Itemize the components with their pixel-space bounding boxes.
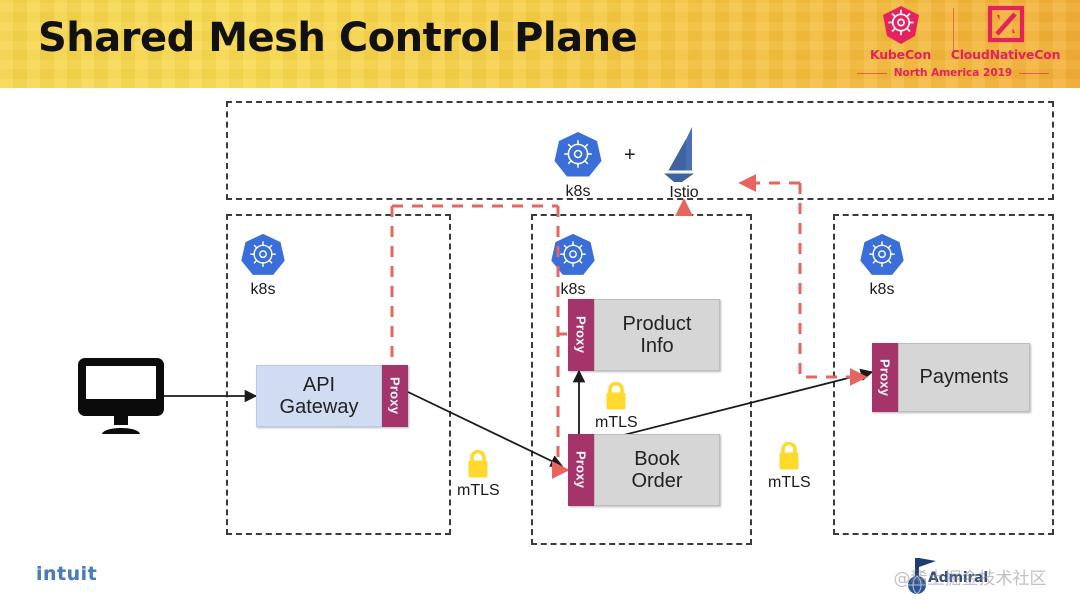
mtls-label: mTLS [457,482,500,500]
subtitle-rule-right [1019,73,1049,74]
service-line-1: Product [623,313,692,335]
kubernetes-icon [552,130,604,182]
service-line-1: Payments [920,366,1009,388]
cluster-middle-k8s: k8s [549,232,597,299]
lock-icon [775,441,803,471]
proxy-sidecar-product-info[interactable]: Proxy [568,299,594,371]
service-book-order[interactable]: Proxy Book Order [568,434,720,506]
service-label-api-gateway: API Gateway [256,365,382,427]
k8s-label: k8s [251,281,276,299]
conference-logos: KubeCon CloudNativeCon North America 201… [840,5,1066,87]
proxy-sidecar-book-order[interactable]: Proxy [568,434,594,506]
cloudnativecon-label: CloudNativeCon [951,47,1061,62]
proxy-label: Proxy [574,451,589,488]
conference-location-year: North America 2019 [894,67,1012,79]
service-line-2: Info [623,335,692,357]
k8s-label: k8s [561,281,586,299]
intuit-logo: intuit [36,563,97,585]
mtls-book-to-product: mTLS [595,381,638,432]
kubernetes-icon [858,232,906,280]
service-line-1: API [280,374,359,396]
proxy-sidecar-api-gateway[interactable]: Proxy [382,365,408,427]
cloudnativecon-square-logo [986,5,1026,45]
istio-logo-group: Istio [656,125,712,202]
mtls-label: mTLS [768,474,811,492]
client-monitor [78,358,164,441]
cluster-right-k8s: k8s [858,232,906,299]
k8s-label: k8s [870,281,895,299]
proxy-sidecar-payments[interactable]: Proxy [872,343,898,412]
service-label-book-order: Book Order [594,434,720,506]
slide-canvas: Shared Mesh Control Plane [0,0,1080,600]
proxy-label: Proxy [388,377,403,414]
logo-divider [953,8,954,54]
istio-icon [656,125,712,183]
kubernetes-icon [549,232,597,280]
k8s-label: k8s [566,183,591,201]
mtls-label: mTLS [595,414,638,432]
watermark-text: @稀土掘金技术社区 [870,564,1070,589]
proxy-label: Proxy [574,316,589,353]
cluster-left-k8s: k8s [239,232,287,299]
mtls-gateway-to-book: mTLS [457,449,500,500]
kubecon-helm-logo [880,5,922,45]
mtls-book-to-payments: mTLS [768,441,811,492]
control-plane-box [226,101,1054,200]
cloudnativecon-logo-block: CloudNativeCon [954,5,1058,62]
plus-operator: + [624,144,636,167]
service-line-1: Book [631,448,682,470]
kubecon-logo-block: KubeCon [849,5,953,62]
service-label-product-info: Product Info [594,299,720,371]
service-line-2: Order [631,470,682,492]
lock-icon [602,381,630,411]
service-api-gateway[interactable]: API Gateway Proxy [256,365,408,427]
istio-label: Istio [669,184,698,202]
desktop-monitor-icon [78,358,164,436]
watermark: Admiral @稀土掘金技术社区 [870,556,1070,596]
page-title: Shared Mesh Control Plane [38,15,637,61]
control-plane-k8s: k8s [552,130,604,201]
service-payments[interactable]: Proxy Payments [872,343,1030,412]
proxy-label: Proxy [878,359,893,396]
kubecon-label: KubeCon [870,47,931,62]
service-label-payments: Payments [898,343,1030,412]
subtitle-rule-left [857,73,887,74]
conference-subtitle: North America 2019 [840,67,1066,79]
kubernetes-icon [239,232,287,280]
service-product-info[interactable]: Proxy Product Info [568,299,720,371]
service-line-2: Gateway [280,396,359,418]
lock-icon [464,449,492,479]
